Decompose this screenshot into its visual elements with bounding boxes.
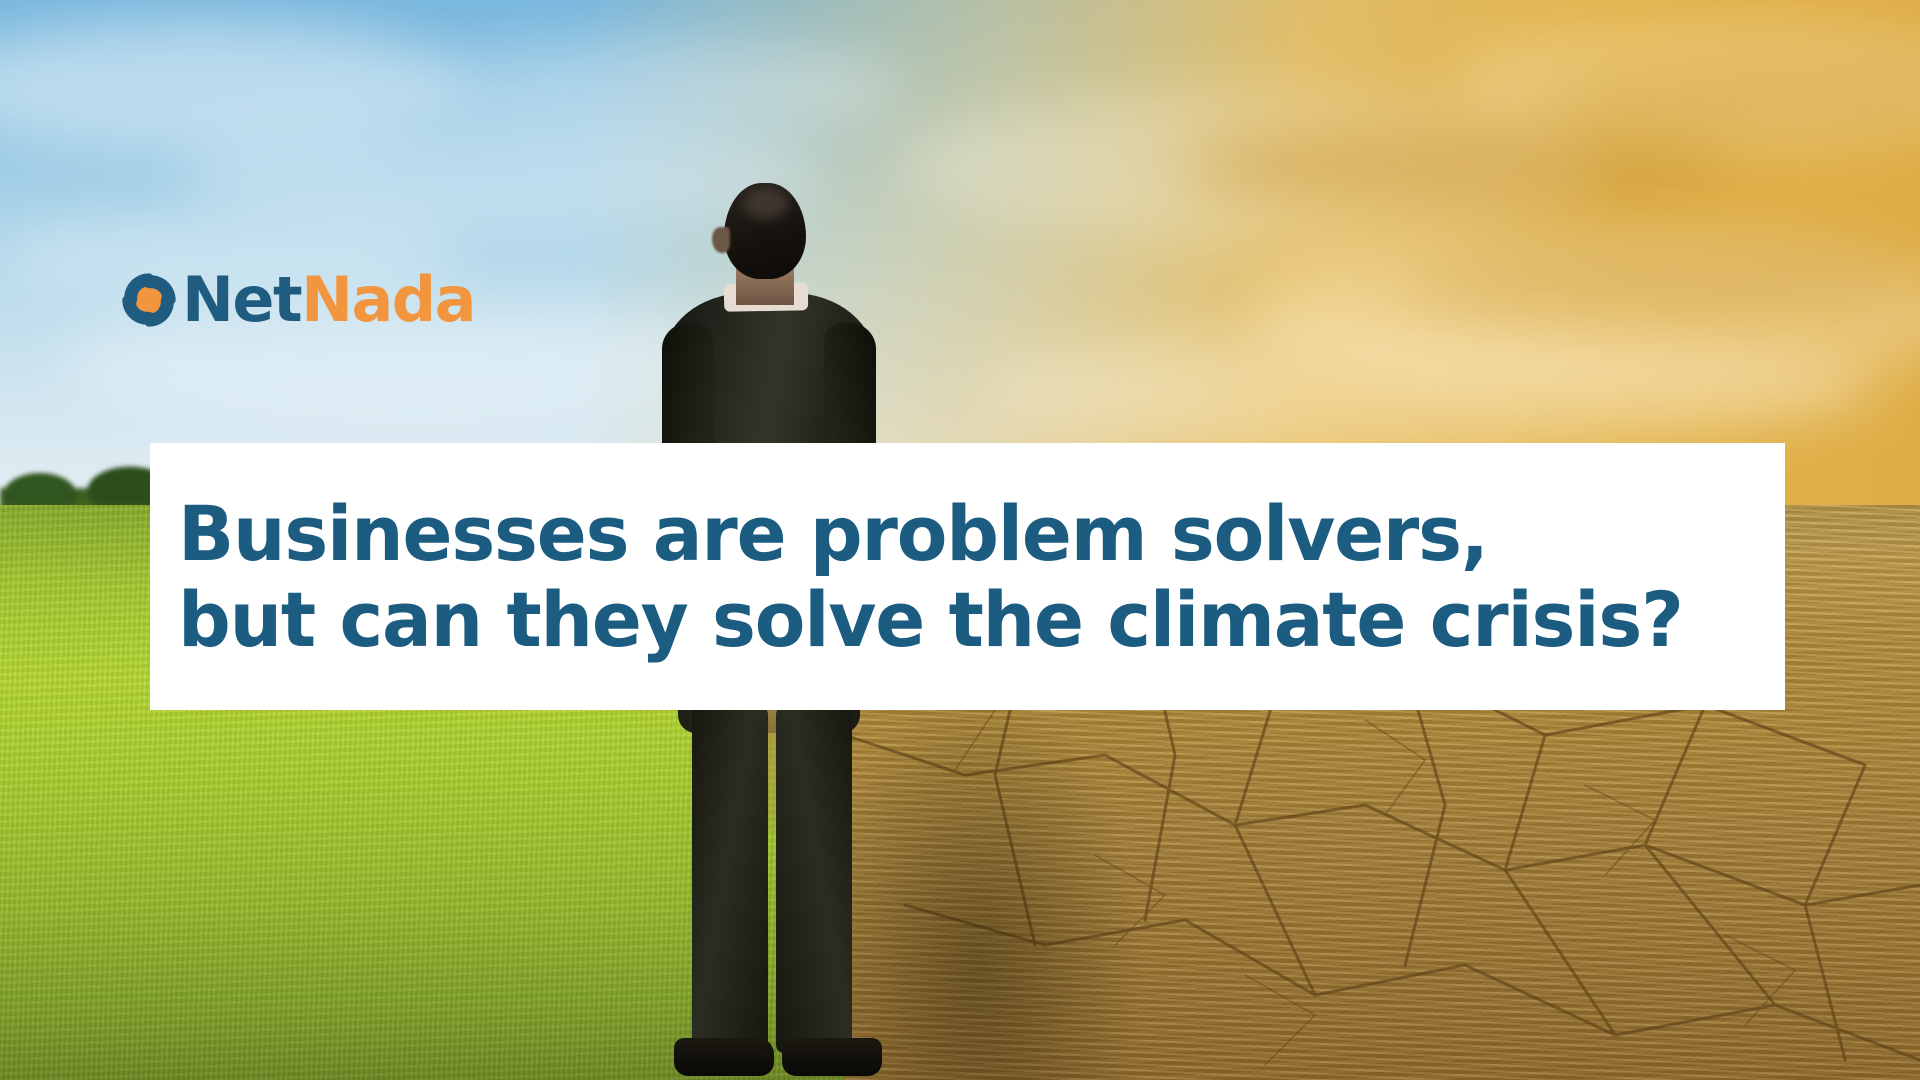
logo-word-nada: Nada	[301, 263, 475, 336]
trouser-left-leg	[692, 703, 768, 1053]
cloud	[420, 40, 900, 135]
right-shoe	[782, 1038, 882, 1076]
netnada-logo[interactable]: NetNada	[118, 262, 475, 338]
cloud	[980, 330, 1880, 450]
headline-panel: Businesses are problem solvers, but can …	[150, 443, 1785, 710]
haze-wisp	[1180, 120, 1740, 210]
banner-image: NetNada Businesses are problem solvers, …	[0, 0, 1920, 1080]
headline-line-2: but can they solve the climate crisis?	[178, 577, 1737, 662]
left-shoe	[674, 1038, 774, 1076]
haze-wisp	[1400, 240, 1920, 320]
aperture-swirl-icon	[118, 269, 180, 331]
trouser-right-leg	[776, 703, 852, 1053]
ear	[712, 227, 730, 253]
logo-wordmark: NetNada	[182, 269, 475, 331]
headline-line-1: Businesses are problem solvers,	[178, 491, 1737, 576]
logo-word-net: Net	[182, 263, 301, 336]
hair-highlight	[744, 189, 788, 219]
